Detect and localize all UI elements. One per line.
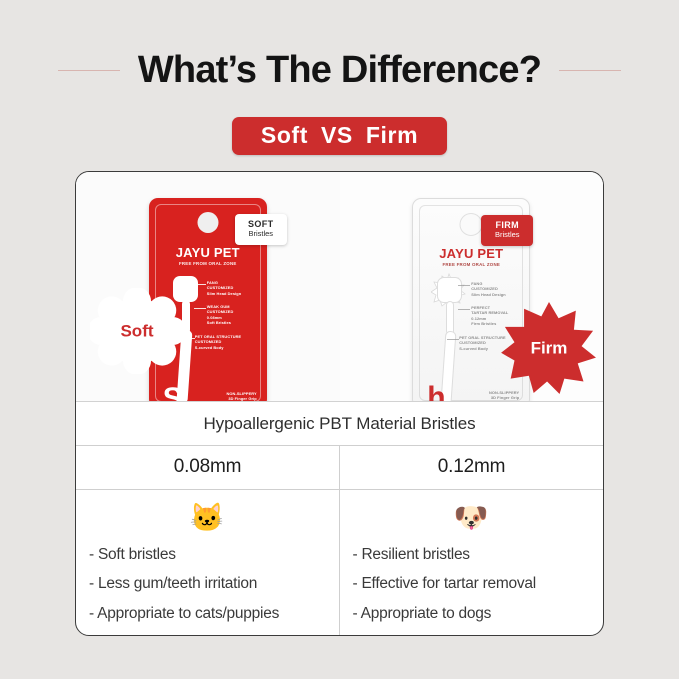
list-item: - Soft bristles xyxy=(89,547,339,563)
package-hang-hole-soft xyxy=(197,212,218,233)
package-big-letter-firm: h xyxy=(427,383,445,401)
page-title: What’s The Difference? xyxy=(138,51,541,89)
title-rule-right xyxy=(559,70,621,71)
package-feature-3-firm: PET ORAL STRUCTURE CUSTOMIZED S-curved B… xyxy=(459,335,505,351)
vs-pill-left-label: Soft xyxy=(261,122,308,148)
package-hang-hole-firm xyxy=(460,213,483,236)
package-feature-1-soft: FANG CUSTOMIZED Slim Head Design xyxy=(207,280,241,296)
bristle-tag-main-soft: SOFT xyxy=(235,219,287,229)
package-brand-sub-soft: FREE FROM ORAL ZONE xyxy=(149,262,267,266)
firm-callout-badge: Firm xyxy=(501,302,597,394)
list-item: - Less gum/teeth irritation xyxy=(89,576,339,592)
product-image-cell-firm: JAYU PET FREE FROM ORAL ZONE FANG CUSTOM… xyxy=(340,172,604,401)
package-brand-sub-firm: FREE FROM ORAL ZONE xyxy=(413,263,529,267)
soft-badge-label: Soft xyxy=(90,323,184,340)
package-brand-soft: JAYU PET xyxy=(149,246,267,259)
package-big-letter-soft: S xyxy=(163,384,183,401)
material-row: Hypoallergenic PBT Material Bristles xyxy=(76,402,603,446)
soft-vs-firm-badge: Soft VS Firm xyxy=(232,117,447,155)
list-item: - Resilient bristles xyxy=(353,547,604,563)
package-feature-3-soft: PET ORAL STRUCTURE CUSTOMIZED S-curved B… xyxy=(195,334,241,350)
package-nonslip-note-soft: NON-SLIPPERY 3D Finger Grip xyxy=(227,391,257,401)
detail-row: 🐱 - Soft bristles - Less gum/teeth irrit… xyxy=(76,490,603,636)
vs-pill-right-label: Firm xyxy=(366,122,418,148)
comparison-card: JAYU PET FREE FROM ORAL ZONE FANG CUSTOM… xyxy=(75,171,604,636)
title-rule-left xyxy=(58,70,120,71)
product-image-cell-soft: JAYU PET FREE FROM ORAL ZONE FANG CUSTOM… xyxy=(76,172,340,401)
feature-leader-line-1-soft xyxy=(194,284,206,285)
vs-pill-container: Soft VS Firm xyxy=(0,117,679,155)
bristle-size-soft: 0.08mm xyxy=(76,446,340,489)
list-item: - Appropriate to cats/puppies xyxy=(89,606,339,622)
benefit-list-soft: - Soft bristles - Less gum/teeth irritat… xyxy=(76,538,339,636)
bristle-tag-main-firm: FIRM xyxy=(481,220,533,230)
feature-leader-line-2-firm xyxy=(458,309,470,310)
material-label: Hypoallergenic PBT Material Bristles xyxy=(204,414,476,434)
product-image-row: JAYU PET FREE FROM ORAL ZONE FANG CUSTOM… xyxy=(76,172,603,402)
package-brand-firm: JAYU PET xyxy=(413,247,529,260)
feature-leader-line-2-soft xyxy=(194,308,206,309)
package-feature-2-soft: WEAK GUM CUSTOMIZED 0.08mm Soft Bristles xyxy=(207,304,234,325)
feature-leader-line-1-firm xyxy=(458,285,470,286)
bristle-tag-sub-soft: Bristles xyxy=(235,230,287,239)
firm-badge-label: Firm xyxy=(501,340,597,357)
detail-cell-soft: 🐱 - Soft bristles - Less gum/teeth irrit… xyxy=(76,490,340,636)
dog-face-icon: 🐶 xyxy=(340,504,604,538)
vs-pill-middle-label: VS xyxy=(321,122,353,148)
benefit-list-firm: - Resilient bristles - Effective for tar… xyxy=(340,538,604,636)
bristle-tag-firm: FIRM Bristles xyxy=(481,215,533,246)
list-item: - Appropriate to dogs xyxy=(353,606,604,622)
page-header: What’s The Difference? xyxy=(0,38,679,102)
brush-neck-firm xyxy=(446,301,454,335)
bristle-tag-soft: SOFT Bristles xyxy=(235,214,287,245)
detail-cell-firm: 🐶 - Resilient bristles - Effective for t… xyxy=(340,490,604,636)
bristle-tag-sub-firm: Bristles xyxy=(481,231,533,240)
cat-face-icon: 🐱 xyxy=(76,504,339,538)
brush-head-firm xyxy=(437,277,462,303)
list-item: - Effective for tartar removal xyxy=(353,576,604,592)
feature-leader-line-3-firm xyxy=(447,339,459,340)
feature-leader-line-3-soft xyxy=(183,338,195,339)
package-feature-1-firm: FANG CUSTOMIZED Slim Head Design xyxy=(471,281,505,297)
bristle-size-firm: 0.12mm xyxy=(340,446,603,489)
bristle-size-row: 0.08mm 0.12mm xyxy=(76,446,603,490)
soft-callout-badge: Soft xyxy=(90,288,184,374)
